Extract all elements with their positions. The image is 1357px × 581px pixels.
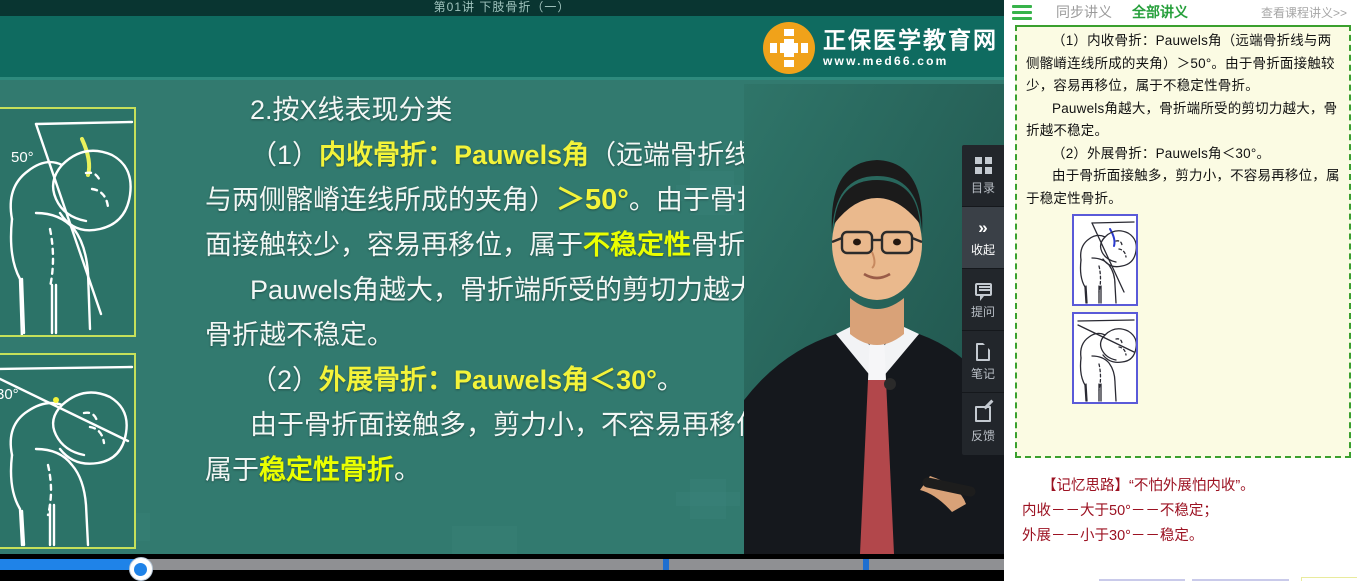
chapter-marker[interactable] xyxy=(663,559,669,570)
note-icon xyxy=(973,342,993,362)
memo-line-3: 外展－－小于30°－－稳定。 xyxy=(1022,524,1352,549)
notes-hip-diagram-2 xyxy=(1072,312,1138,404)
menu-icon[interactable] xyxy=(1012,5,1032,20)
video-lesson-page: 第01讲 下肢骨折（一） 正保医学教育网 www.med66.com 2.按X xyxy=(0,0,1357,581)
angle-label-50: 50° xyxy=(11,149,34,166)
toolbar-item-ask[interactable]: 提问 xyxy=(962,269,1004,331)
chevron-right-double-icon: » xyxy=(973,218,993,238)
cross-logo-icon xyxy=(763,22,815,74)
logo-url: www.med66.com xyxy=(823,53,949,69)
toolbar-item-catalog[interactable]: 目录 xyxy=(962,145,1004,207)
angle-label-30: 30° xyxy=(0,386,19,403)
toolbar-item-feedback[interactable]: 反馈 xyxy=(962,393,1004,455)
hip-diagram-50deg: 50° xyxy=(0,107,136,337)
hip-diagram-30deg: 30° xyxy=(0,353,136,549)
toolbar-label: 收起 xyxy=(971,241,995,258)
watermark-cross xyxy=(452,526,517,554)
panel-footer-stub xyxy=(1099,577,1349,581)
lecture-notes-panel: 同步讲义 全部讲义 查看课程讲义>> （1）内收骨折：Pauwels角（远端骨折… xyxy=(1004,0,1357,581)
tab-sync-notes[interactable]: 同步讲义 xyxy=(1046,2,1122,22)
notes-figures xyxy=(1026,214,1340,404)
notes-paragraph-4: 由于骨折面接触多，剪力小，不容易再移位，属于稳定性骨折。 xyxy=(1026,165,1340,210)
notes-content-box: （1）内收骨折：Pauwels角（远端骨折线与两侧髂嵴连线所成的夹角）＞50°。… xyxy=(1015,25,1351,458)
player-controls[interactable] xyxy=(0,554,1004,581)
video-player[interactable]: 第01讲 下肢骨折（一） 正保医学教育网 www.med66.com 2.按X xyxy=(0,0,1004,581)
pencil-square-icon xyxy=(973,404,993,424)
progress-track[interactable] xyxy=(0,559,1004,570)
toolbar-label: 笔记 xyxy=(971,365,995,382)
footer-box xyxy=(1301,577,1357,581)
toolbar-item-collapse[interactable]: » 收起 xyxy=(962,207,1004,269)
toolbar-label: 提问 xyxy=(971,303,995,320)
memory-tip-block: 【记忆思路】“不怕外展怕内收”。 内收－－大于50°－－不稳定； 外展－－小于3… xyxy=(1022,474,1352,549)
chapter-marker[interactable] xyxy=(863,559,869,570)
notes-hip-diagram-1 xyxy=(1072,214,1138,306)
speech-bubble-icon xyxy=(973,280,993,300)
lesson-title: 第01讲 下肢骨折（一） xyxy=(0,0,1004,16)
tab-all-notes[interactable]: 全部讲义 xyxy=(1122,2,1198,22)
notes-tabbar: 同步讲义 全部讲义 查看课程讲义>> xyxy=(1004,0,1357,25)
notes-paragraph-1: （1）内收骨折：Pauwels角（远端骨折线与两侧髂嵴连线所成的夹角）＞50°。… xyxy=(1026,30,1340,98)
logo-name: 正保医学教育网 xyxy=(823,27,998,53)
watermark-cross xyxy=(676,492,740,506)
view-course-notes-link[interactable]: 查看课程讲义>> xyxy=(1261,4,1351,21)
site-logo: 正保医学教育网 www.med66.com xyxy=(763,22,998,74)
memo-line-1: 【记忆思路】“不怕外展怕内收”。 xyxy=(1022,474,1352,499)
toolbar-label: 目录 xyxy=(971,179,995,196)
progress-fill xyxy=(0,559,141,570)
grid-icon xyxy=(973,156,993,176)
toolbar-label: 反馈 xyxy=(971,427,995,444)
slide-stage: 正保医学教育网 www.med66.com 2.按X线表现分类 （1）内收骨折：… xyxy=(0,16,1004,554)
notes-paragraph-2: Pauwels角越大，骨折端所受的剪切力越大，骨折越不稳定。 xyxy=(1026,98,1340,143)
toolbar-item-notes[interactable]: 笔记 xyxy=(962,331,1004,393)
notes-paragraph-3: （2）外展骨折：Pauwels角＜30°。 xyxy=(1026,143,1340,166)
player-side-toolbar[interactable]: 目录 » 收起 提问 笔记 反馈 xyxy=(962,145,1004,455)
player-title-bar: 第01讲 下肢骨折（一） xyxy=(0,0,1004,16)
progress-handle[interactable] xyxy=(129,557,153,581)
memo-line-2: 内收－－大于50°－－不稳定； xyxy=(1022,499,1352,524)
